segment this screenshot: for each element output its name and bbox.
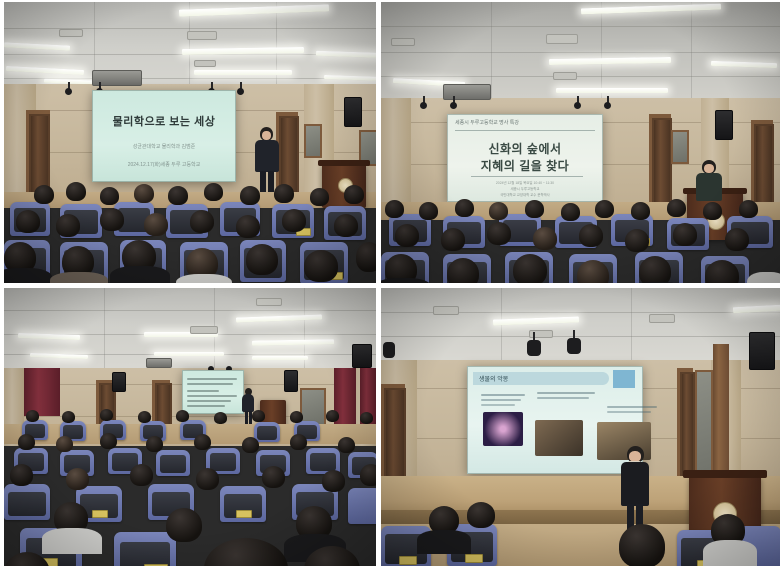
spotlight-icon <box>527 340 541 356</box>
slide-image-1 <box>483 412 523 446</box>
loudspeaker-icon <box>344 97 362 127</box>
seat-number-plate <box>399 556 417 565</box>
ceiling-vent-icon <box>256 298 282 306</box>
slide-title-line2: 지혜의 길을 찾다 <box>447 157 603 174</box>
spotlight-icon <box>65 88 72 95</box>
slide-image-2 <box>535 420 583 456</box>
seat-number-plate <box>236 510 252 518</box>
spotlight-icon <box>604 102 611 109</box>
speaker-person <box>695 160 723 200</box>
ceiling-vent-icon <box>59 29 83 37</box>
side-door[interactable] <box>384 388 406 488</box>
photo-collage: 물리학으로 보는 세상 성균관대학교 물리학과 김범준 2024.12.17(화… <box>0 0 780 568</box>
photo-top-right: 세종시 두루고등학교 명사 특강 신화의 숲에서 지혜의 길을 찾다 2024년… <box>381 2 780 283</box>
slide-date: 2024.12.17(화)세종 두루 고등학교 <box>92 161 236 168</box>
loudspeaker-icon <box>749 332 775 370</box>
control-window <box>671 130 689 164</box>
slide-title: 생물의 악몽 <box>479 374 508 383</box>
projector-icon <box>443 84 491 100</box>
loudspeaker-icon <box>715 110 733 140</box>
ceiling-vent-icon <box>187 31 217 40</box>
photo-bottom-left <box>4 288 376 566</box>
ceiling-vent-icon <box>553 72 577 80</box>
seat-number-plate <box>144 564 168 566</box>
slide-header: 세종시 두루고등학교 명사 특강 <box>455 119 519 126</box>
spotlight-icon <box>574 102 581 109</box>
projection-screen: 세종시 두루고등학교 명사 특강 신화의 숲에서 지혜의 길을 찾다 2024년… <box>447 114 603 202</box>
ceiling-vent-icon <box>433 306 459 315</box>
ceiling-vent-icon <box>649 314 675 323</box>
ceiling-vent-icon <box>546 34 578 44</box>
ceiling-vent-icon <box>194 60 216 67</box>
photo-top-left: 물리학으로 보는 세상 성균관대학교 물리학과 김범준 2024.12.17(화… <box>4 2 376 283</box>
audience-seating <box>381 500 780 566</box>
seat-number-plate <box>465 554 483 563</box>
slide-detail-line3: 국민대학교 교양대학 교수 문학박사 <box>447 192 603 197</box>
spotlight-icon <box>450 102 457 109</box>
control-window <box>304 124 322 158</box>
ceiling-vent-icon <box>190 326 218 334</box>
projection-screen: 생물의 악몽 <box>467 366 643 474</box>
audience-seating <box>4 406 376 566</box>
projector-icon <box>146 358 172 368</box>
spotlight-icon <box>237 88 244 95</box>
slide-title: 물리학으로 보는 세상 <box>92 113 236 129</box>
audience-seating <box>381 198 780 283</box>
slide-title-line1: 신화의 숲에서 <box>447 140 603 157</box>
spotlight-icon <box>420 102 427 109</box>
ceiling-vent-icon <box>391 38 415 46</box>
spotlight-icon <box>383 342 395 358</box>
control-window <box>695 370 713 486</box>
seat-number-plate <box>92 510 108 518</box>
slide-detail-line2: 세종시 두루고등학교 <box>447 186 603 191</box>
loudspeaker-icon <box>284 370 298 392</box>
slide-presenter: 성균관대학교 물리학과 김범준 <box>92 143 236 150</box>
audience-seating <box>4 180 376 283</box>
projection-screen: 물리학으로 보는 세상 성균관대학교 물리학과 김범준 2024.12.17(화… <box>92 90 236 182</box>
photo-bottom-right: 생물의 악몽 <box>381 288 780 566</box>
loudspeaker-icon <box>352 344 372 368</box>
slide-detail-line1: 2024년 12월 18일 목요일 10:40 ~ 11:30 <box>447 180 603 185</box>
loudspeaker-icon <box>112 372 126 392</box>
spotlight-icon <box>567 338 581 354</box>
